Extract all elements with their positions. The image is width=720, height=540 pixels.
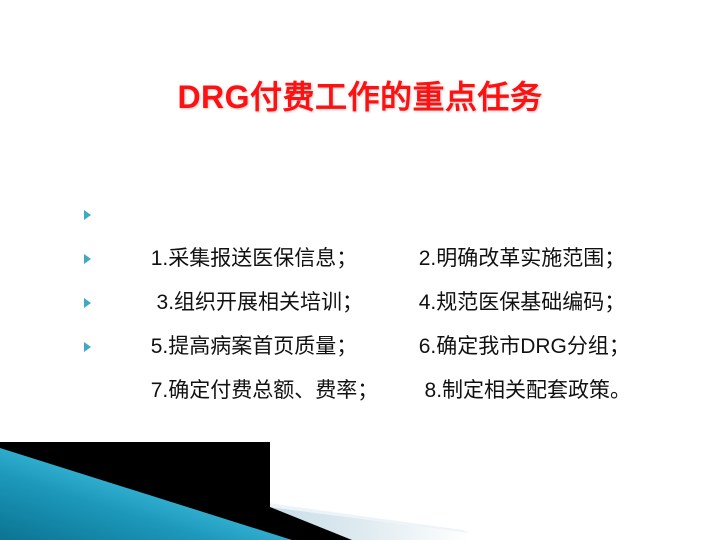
bullet-list: 1.采集报送医保信息；2.明确改革实施范围； 3.组织开展相关培训；4.规范医保… (82, 193, 682, 369)
page-title: DRG付费工作的重点任务 (0, 72, 720, 118)
slide-canvas: DRG付费工作的重点任务 1.采集报送医保信息；2.明确改革实施范围； 3.组织… (0, 0, 720, 540)
list-item-text: 3.组织开展相关培训；4.规范医保基础编码； (104, 237, 625, 281)
black-tail (270, 507, 352, 540)
bullet-triangle-icon (84, 298, 91, 308)
list-item: 7.确定付费总额、费率； 8.制定相关配套政策。 (82, 325, 682, 369)
bullet-triangle-icon (84, 254, 91, 264)
list-item: 3.组织开展相关培训；4.规范医保基础编码； (82, 237, 682, 281)
list-item-left-text: 7.确定付费总额、费率； (151, 369, 419, 413)
bullet-triangle-icon (84, 210, 91, 220)
list-item: 1.采集报送医保信息；2.明确改革实施范围； (82, 193, 682, 237)
teal-diagonal-wedge (0, 448, 292, 540)
bullet-triangle-icon (84, 342, 91, 352)
list-item-text: 7.确定付费总额、费率； 8.制定相关配套政策。 (104, 325, 631, 369)
list-item-right-text: 8.制定相关配套政策。 (419, 369, 631, 413)
list-item-text: 1.采集报送医保信息；2.明确改革实施范围； (104, 193, 625, 237)
pale-diagonal-band-upper (268, 503, 470, 533)
list-item: 5.提高病案首页质量；6.确定我市DRG分组； (82, 281, 682, 325)
list-item-text: 5.提高病案首页质量；6.确定我市DRG分组； (104, 281, 630, 325)
pale-diagonal-band (270, 507, 470, 540)
